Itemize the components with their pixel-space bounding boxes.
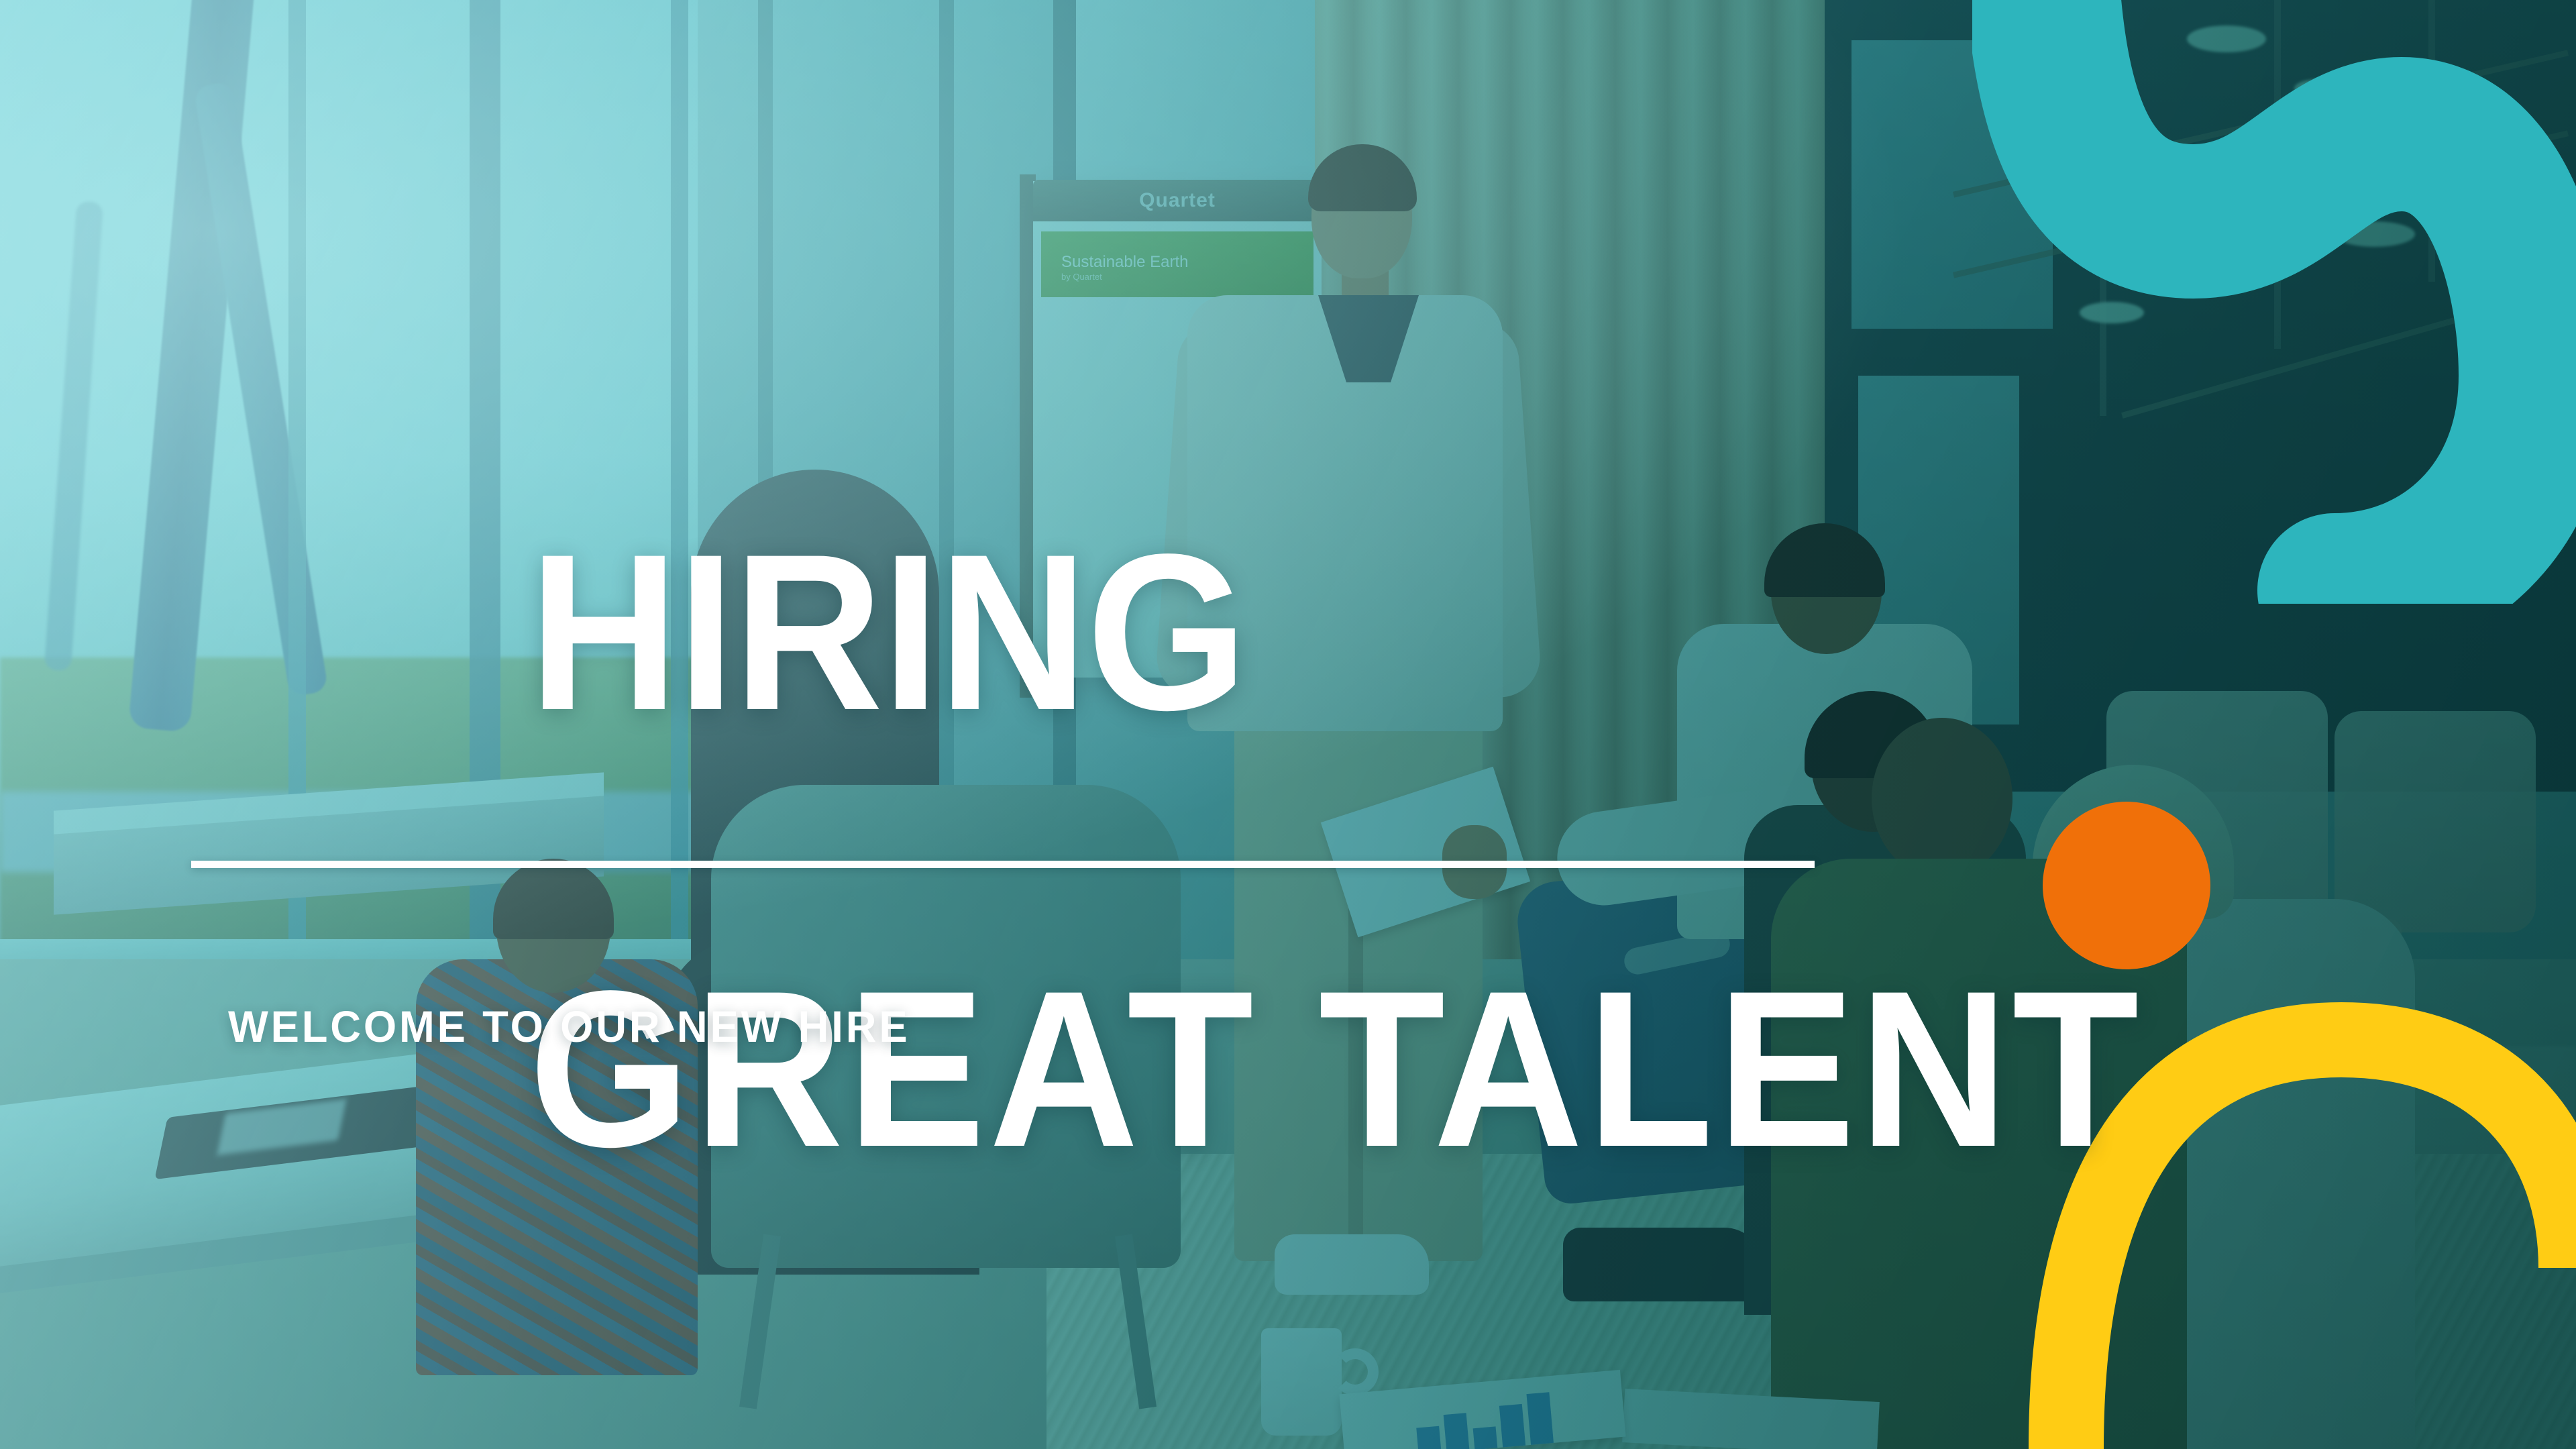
headline-line-1: HIRING	[529, 508, 1247, 757]
headline-line-2: GREAT TALENT	[529, 945, 2143, 1193]
banner-subtitle: WELCOME TO OUR NEW HIRE	[228, 1001, 910, 1052]
page-title: HIRING GREAT TALENT	[191, 305, 2143, 1397]
title-divider-rule	[191, 861, 1815, 868]
hiring-banner: Quartet Sustainable Earthby Quartet	[0, 0, 2576, 1449]
banner-content: HIRING GREAT TALENT WELCOME TO OUR NEW H…	[0, 0, 2576, 1449]
